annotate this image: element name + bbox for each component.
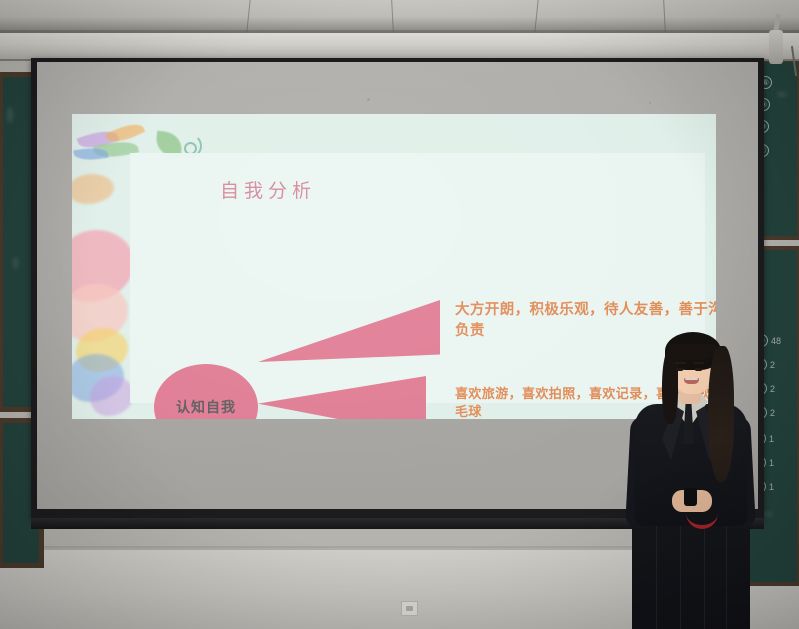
slide-title: 自我分析 <box>220 176 316 203</box>
chalk-item-value: 48 <box>771 336 781 346</box>
presentation-clicker <box>684 488 697 506</box>
roller-end-cap <box>769 30 783 64</box>
presenter-hair-left <box>662 348 678 424</box>
presenter-mouth <box>684 378 699 384</box>
projector-screen-roller[interactable]: ThreeStars <box>0 33 799 61</box>
power-outlet <box>401 601 418 616</box>
presenter <box>612 330 772 629</box>
presenter-hair-right <box>708 346 734 482</box>
classroom-scene: ⑧ ⑨ ⑩ ⑪ ① 48 ② 2 ③ 2 ④ 2 ⑤ 1 <box>0 0 799 629</box>
presenter-skirt <box>632 516 750 629</box>
center-node-label: 认知自我 <box>176 397 236 417</box>
